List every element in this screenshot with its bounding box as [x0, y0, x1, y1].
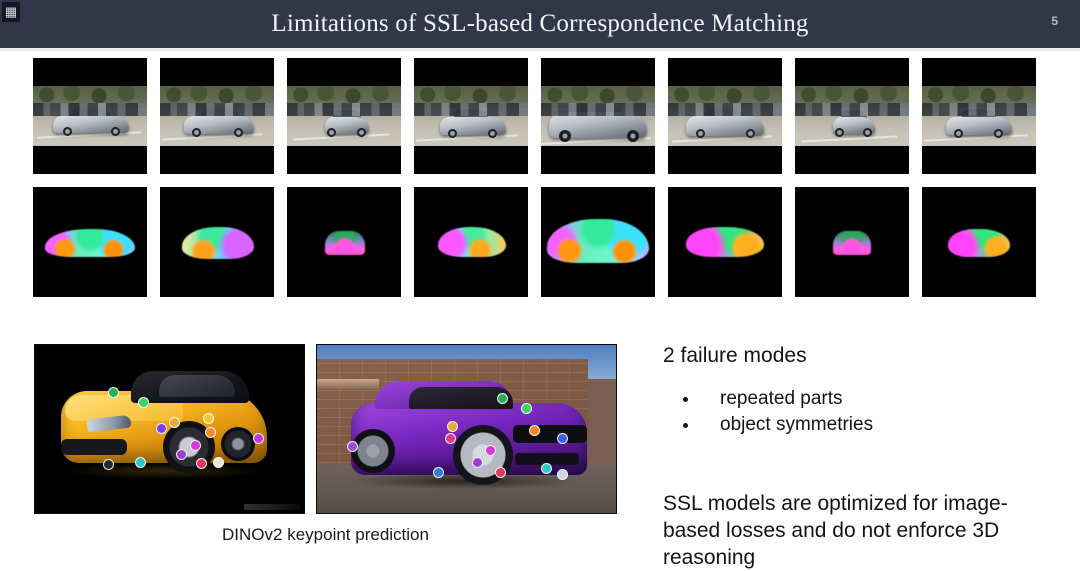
list-item-label: repeated parts	[720, 388, 843, 409]
car-shadow	[63, 463, 263, 479]
keypoint-marker	[529, 425, 540, 436]
correspondence-blob	[438, 227, 506, 257]
feature-map-7	[795, 187, 909, 297]
correspondence-blob	[547, 219, 649, 263]
wheel-front	[448, 129, 457, 138]
failure-modes-heading: 2 failure modes	[663, 344, 807, 368]
wheel-rear	[746, 129, 755, 138]
wheel-rear	[351, 429, 395, 473]
wheel-rear	[221, 427, 255, 461]
wall-ledge	[317, 379, 379, 389]
wheel-front	[954, 129, 963, 138]
watermark	[244, 504, 300, 510]
keypoint-marker	[135, 457, 146, 468]
front-grille	[61, 439, 127, 455]
page-title: Limitations of SSL-based Correspondence …	[271, 10, 808, 38]
keypoint-marker	[541, 463, 552, 474]
side-window	[159, 375, 235, 397]
keypoint-marker	[447, 421, 458, 432]
correspondence-blob	[686, 227, 764, 257]
parking-lot-scene	[33, 86, 147, 146]
wheel-right	[863, 128, 872, 137]
list-item-label: object symmetries	[720, 414, 873, 435]
parking-line	[801, 135, 897, 142]
page-number: 5	[1051, 14, 1058, 28]
keypoint-marker	[156, 423, 167, 434]
keypoint-marker	[347, 441, 358, 452]
keypoint-marker	[190, 440, 201, 451]
correspondence-blob	[182, 227, 254, 259]
keypoint-marker	[557, 469, 568, 480]
car-photo-6	[668, 58, 782, 174]
bullet-dot	[683, 397, 688, 402]
keypoint-marker	[497, 393, 508, 404]
wheel-left	[327, 128, 336, 137]
keypoint-marker	[196, 458, 207, 469]
keypoint-caption: DINOv2 keypoint prediction	[34, 525, 617, 545]
keypoint-marker	[472, 457, 483, 468]
slide: Limitations of SSL-based Correspondence …	[0, 0, 1080, 571]
closing-note: SSL models are optimized for image-based…	[663, 490, 1063, 571]
wheel-rear	[488, 129, 497, 138]
parking-lot-scene	[541, 86, 655, 146]
slide-header: Limitations of SSL-based Correspondence …	[0, 0, 1080, 48]
car-photo-1	[33, 58, 147, 174]
wheel-front	[63, 127, 72, 136]
feature-map-3	[287, 187, 401, 297]
keypoint-marker	[203, 413, 214, 424]
purple-challenger-keypoints	[316, 344, 617, 514]
keypoint-marker	[433, 467, 444, 478]
wheel-rear	[234, 128, 243, 137]
feature-map-8	[922, 187, 1036, 297]
car-photo-7	[795, 58, 909, 174]
keypoint-marker	[138, 397, 149, 408]
keypoint-marker	[169, 417, 180, 428]
correspondence-blob	[45, 229, 135, 257]
parking-line	[416, 134, 518, 141]
keypoint-marker	[205, 427, 216, 438]
keypoint-marker	[176, 449, 187, 460]
list-item: object symmetries	[663, 412, 873, 438]
wheel-front	[192, 128, 201, 137]
parking-lot-scene	[287, 86, 401, 146]
keypoint-marker	[103, 459, 114, 470]
car-photo-row	[33, 58, 1036, 174]
car-photo-4	[414, 58, 528, 174]
parking-line	[672, 135, 772, 142]
keypoint-marker	[557, 433, 568, 444]
wheel-front	[559, 130, 571, 142]
car-photo-2	[160, 58, 274, 174]
wheel-rear	[111, 127, 120, 136]
correspondence-blob	[325, 231, 365, 255]
parking-line	[162, 133, 262, 140]
header-underline	[0, 48, 1080, 51]
car-roof	[567, 104, 623, 116]
feature-map-4	[414, 187, 528, 297]
car-photo-8	[922, 58, 1036, 174]
feature-map-5	[541, 187, 655, 297]
correspondence-blob	[948, 229, 1010, 257]
wheel-front	[696, 129, 705, 138]
feature-map-row	[33, 187, 1036, 297]
wheel-rear	[627, 130, 639, 142]
parking-lot-scene	[668, 86, 782, 146]
parking-lot-scene	[414, 86, 528, 146]
feature-map-2	[160, 187, 274, 297]
parking-lot-scene	[160, 86, 274, 146]
wheel-left	[835, 128, 844, 137]
feature-map-6	[668, 187, 782, 297]
keypoint-marker	[495, 467, 506, 478]
keypoint-marker	[445, 433, 456, 444]
parking-line	[924, 134, 1028, 141]
wheel-rear	[994, 129, 1003, 138]
feature-map-1	[33, 187, 147, 297]
parking-lot-scene	[922, 86, 1036, 146]
failure-modes-list: repeated parts object symmetries	[663, 386, 873, 438]
parking-lot-scene	[795, 86, 909, 146]
car-photo-3	[287, 58, 401, 174]
grid-icon[interactable]: ▦	[2, 2, 20, 22]
bullet-dot	[683, 423, 688, 428]
wheel-right	[357, 128, 366, 137]
keypoint-marker	[253, 433, 264, 444]
front-grille	[513, 425, 587, 443]
keypoint-marker	[521, 403, 532, 414]
parking-line	[293, 133, 389, 140]
car-photo-5	[541, 58, 655, 174]
yellow-coupe-keypoints	[34, 344, 305, 514]
correspondence-blob	[833, 231, 871, 255]
keypoint-marker	[108, 387, 119, 398]
keypoint-marker	[485, 445, 496, 456]
keypoint-marker	[213, 457, 224, 468]
list-item: repeated parts	[663, 386, 873, 412]
